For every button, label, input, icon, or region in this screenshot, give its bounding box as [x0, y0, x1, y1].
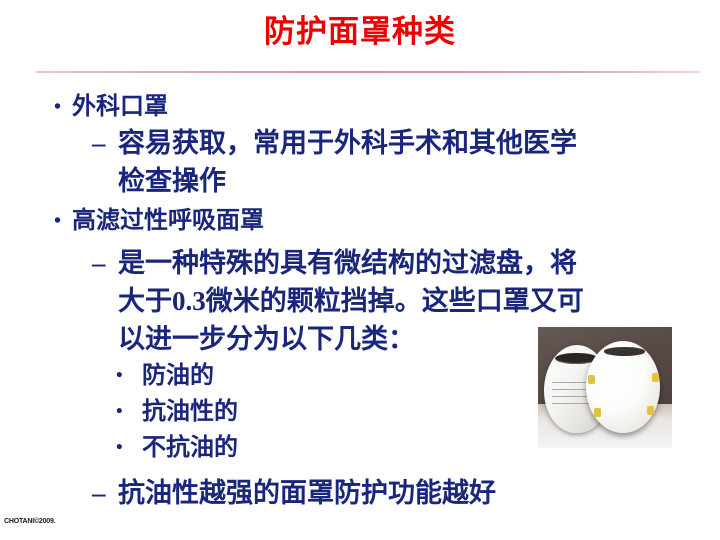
- bullet-dot-icon: •: [116, 358, 123, 394]
- bullet-text: 抗油性的: [142, 399, 238, 425]
- mask-staple: [652, 373, 659, 382]
- respirator-masks-photo: [538, 327, 672, 448]
- bullet-text: 大于0.3微米的颗粒挡掉。这些口罩又可: [118, 286, 584, 316]
- slide-canvas: 防护面罩种类 • 外科口罩 – 容易获取，常用于外科手术和其他医学 检查操作 •…: [0, 0, 720, 540]
- copyright-watermark: CHOTANI©2009.: [4, 518, 55, 525]
- bullet-item-level1: • 高滤过性呼吸面罩: [0, 204, 720, 238]
- bullet-dot-icon: •: [54, 204, 61, 238]
- dash-marker-icon: –: [92, 124, 106, 162]
- bullet-dot-icon: •: [54, 90, 61, 124]
- bullet-text: 外科口罩: [72, 94, 168, 120]
- dash-marker-icon: –: [92, 474, 106, 512]
- bullet-text: 高滤过性呼吸面罩: [72, 208, 264, 234]
- bullet-item-level2-wrap: 大于0.3微米的颗粒挡掉。这些口罩又可: [0, 282, 720, 320]
- mask-staple: [588, 375, 595, 384]
- bullet-item-level2-wrap: 检查操作: [0, 162, 720, 200]
- bullet-text: 不抗油的: [142, 435, 238, 461]
- bullet-text: 防油的: [142, 363, 214, 389]
- title-divider: [36, 71, 700, 73]
- body-content: • 外科口罩 – 容易获取，常用于外科手术和其他医学 检查操作 • 高滤过性呼吸…: [0, 90, 720, 512]
- bullet-text: 抗油性越强的面罩防护功能越好: [118, 478, 496, 508]
- bullet-dot-icon: •: [116, 394, 123, 430]
- mask-staple: [647, 406, 654, 415]
- bullet-text: 是一种特殊的具有微结构的过滤盘，将: [118, 248, 577, 278]
- bullet-text: 检查操作: [118, 166, 226, 196]
- bullet-text: 容易获取，常用于外科手术和其他医学: [118, 128, 577, 158]
- page-title: 防护面罩种类: [0, 13, 720, 51]
- mask-staple: [594, 408, 601, 417]
- bullet-item-level2: – 容易获取，常用于外科手术和其他医学: [0, 124, 720, 162]
- bullet-item-level1: • 外科口罩: [0, 90, 720, 124]
- bullet-item-level2: – 是一种特殊的具有微结构的过滤盘，将: [0, 244, 720, 282]
- dash-marker-icon: –: [92, 244, 106, 282]
- mask-strap-slot: [604, 347, 645, 355]
- bullet-dot-icon: •: [116, 430, 123, 466]
- bullet-item-level2: – 抗油性越强的面罩防护功能越好: [0, 474, 720, 512]
- bullet-text: 以进一步分为以下几类：: [118, 324, 415, 354]
- cup-mask-shape: [586, 341, 660, 433]
